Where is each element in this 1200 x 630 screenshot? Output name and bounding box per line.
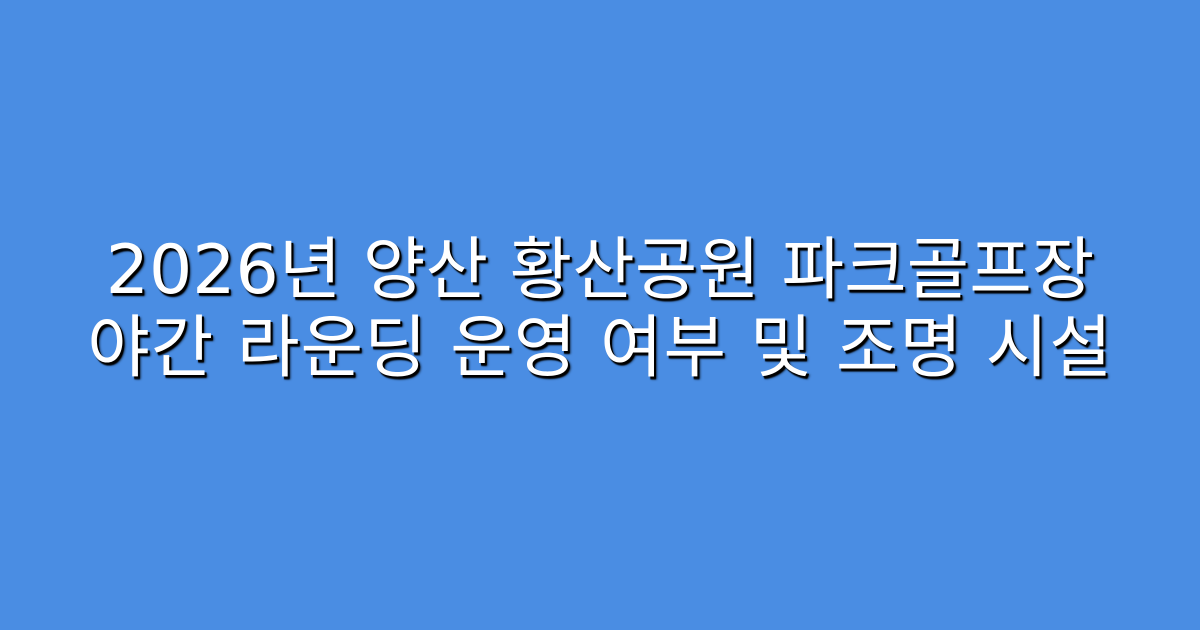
thumbnail-card: 2026년 양산 황산공원 파크골프장 야간 라운딩 운영 여부 및 조명 시설 xyxy=(0,0,1200,630)
title-block: 2026년 양산 황산공원 파크골프장 야간 라운딩 운영 여부 및 조명 시설 xyxy=(20,232,1180,388)
title-line-1: 2026년 양산 황산공원 파크골프장 xyxy=(20,232,1180,310)
title-line-2: 야간 라운딩 운영 여부 및 조명 시설 xyxy=(20,310,1180,388)
